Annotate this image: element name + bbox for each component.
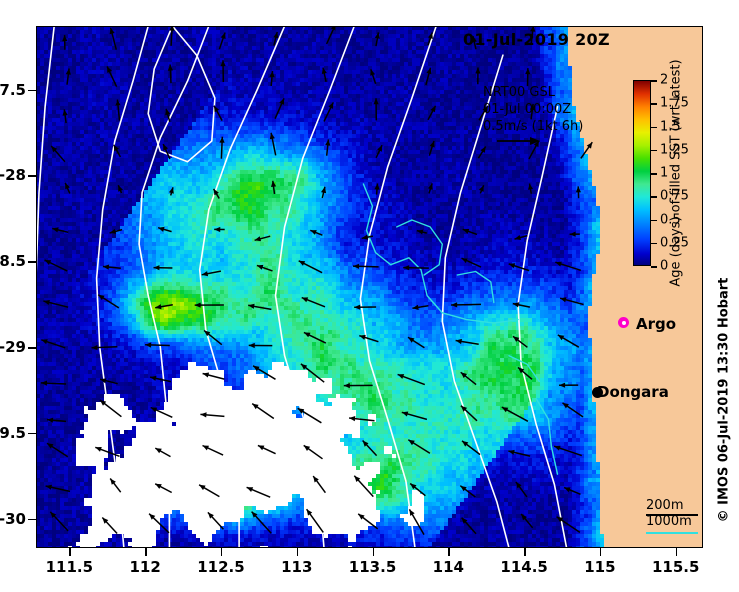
current-vector-arrow [110,28,117,50]
current-vector-arrow [513,302,530,307]
colorbar-tick-label: 2 [660,73,668,88]
bathymetry-200m-label: 200m [646,498,692,514]
colorbar-tick [651,266,657,268]
vector-legend-time: 01-Jul 00:00Z [483,101,583,118]
current-vector-arrow [461,372,476,384]
bathymetry-contour-200m [200,26,285,548]
x-axis-tick-label: 113 [281,558,312,576]
x-axis-tick-label: 112 [129,558,160,576]
current-vector-arrow [151,408,173,418]
current-vector-arrow [398,374,425,385]
x-axis-tick-label: 115.5 [652,558,699,576]
current-vector-arrow [98,295,119,308]
current-vector-arrow [41,381,66,386]
current-vector-arrow [327,26,336,44]
current-vector-arrow [358,514,378,529]
x-axis-tick-label: 112.5 [197,558,244,576]
current-vector-arrow [257,265,273,271]
bathymetry-contour-1000m [457,272,493,303]
current-vector-arrow [564,487,580,494]
current-vector-arrow [47,418,66,423]
current-vector-arrow [515,235,528,240]
current-vector-arrow [508,450,530,456]
colorbar-tick [651,80,657,82]
current-vector-arrow [270,133,276,156]
current-vector-arrow [204,330,222,344]
colorbar-label: Age (days) of filled SST (wrt latest) [669,59,684,286]
current-vector-arrow [354,476,373,497]
vector-legend-source: NRT00 GSL [483,84,583,101]
bathymetry-contour-1000m [397,220,443,275]
y-axis-tick [28,347,36,349]
current-vector-arrow [95,447,119,456]
current-vector-arrow [203,373,225,380]
current-vector-arrow [103,265,121,270]
current-vector-arrow [344,383,373,388]
current-vector-arrow [66,69,71,85]
current-vector-arrow [214,106,222,121]
x-axis-tick-label: 114 [433,558,464,576]
colorbar [633,80,651,266]
current-vector-arrow [258,445,276,453]
current-vector-arrow [462,258,482,267]
current-vector-arrow [428,106,436,120]
current-vector-arrow [558,335,579,347]
current-vector-arrow [451,302,481,307]
colorbar-tick [651,173,657,175]
current-vector-arrow [301,364,324,382]
y-axis-tick-label: -30 [0,510,26,528]
y-axis-tick [28,261,36,263]
bathymetry-1000m-label: 1000m [646,514,692,530]
current-vector-arrow [271,181,276,194]
colorbar-tick [651,243,657,245]
current-vector-arrow [456,339,479,344]
bathymetry-1000m-line [646,532,698,534]
current-vector-arrow [576,186,581,198]
current-vector-arrow [461,406,477,421]
current-vector-arrow [403,265,429,270]
current-vector-arrow [247,487,271,497]
current-vector-arrow [100,400,122,417]
current-vector-arrow [502,407,528,421]
current-vector-arrow [63,109,68,123]
y-axis-tick-label: -28 [0,166,26,184]
current-vector-arrow [275,98,284,118]
current-vector-arrow [65,183,70,194]
bathymetry-contour-200m [276,26,355,548]
current-vector-arrow [324,102,333,121]
current-vector-arrow [555,262,581,271]
y-axis-tick [28,433,36,435]
x-axis-tick [373,548,375,556]
current-vector-arrow [110,479,121,493]
x-axis-tick [221,548,223,556]
current-vector-arrow [570,232,580,237]
current-vector-arrow [168,65,173,84]
sst-age-map [36,26,703,548]
current-vector-arrow [221,60,226,82]
current-vector-arrow [354,305,376,310]
x-axis-tick-label: 111.5 [46,558,93,576]
current-vector-arrow [460,486,475,497]
current-vector-arrow [363,441,377,456]
colorbar-tick [651,103,657,105]
current-vector-arrow [375,32,380,46]
current-vector-arrow [110,229,123,234]
current-vector-arrow [429,141,434,156]
current-vector-arrow [155,304,173,309]
current-vector-arrow [249,343,273,348]
current-vector-arrow [349,416,374,421]
current-vector-arrow [298,408,322,423]
y-axis-tick-label: -29 [0,338,26,356]
colorbar-tick [651,150,657,152]
x-axis-tick-label: 113.5 [349,558,396,576]
y-axis-tick-label: -27.5 [0,81,26,99]
y-axis-tick-label: -28.5 [0,252,26,270]
argo-label: Argo [636,315,676,333]
current-vector-arrow [100,378,118,384]
vector-legend: NRT00 GSL 01-Jul 00:00Z 0.5m/s (1kt 6h) [483,84,583,135]
x-axis-tick [145,548,147,556]
current-vector-arrow [219,33,225,50]
current-vector-arrow [165,109,170,122]
current-vector-arrow [362,235,373,240]
map-overlay [36,26,703,548]
current-vector-arrow [528,184,533,194]
current-vector-arrow [426,68,432,85]
current-vector-arrow [51,146,65,162]
y-axis-tick [28,519,36,521]
current-vector-arrow [359,335,378,342]
current-vector-arrow [325,139,330,155]
current-vector-arrow [208,512,224,529]
colorbar-tick-label: 1 [660,166,668,181]
current-vector-arrow [563,403,584,417]
current-vector-arrow [214,227,225,232]
current-vector-arrow [310,230,322,235]
current-vector-arrow [376,145,382,158]
x-axis-tick [69,548,71,556]
current-vector-arrow [163,144,170,159]
current-vector-arrow [102,518,117,534]
x-axis-tick [297,548,299,556]
x-axis-tick-label: 114.5 [500,558,547,576]
current-vector-arrow [478,147,485,159]
current-vector-arrow [462,518,476,534]
current-vector-arrow [169,26,174,46]
current-vector-arrow [417,230,427,235]
right-arrow-icon [496,134,542,148]
current-vector-arrow [374,183,379,194]
dongara-label: Dongara [597,383,669,401]
current-vector-arrow [253,366,275,380]
current-vector-arrow [52,227,68,232]
current-vector-arrow [248,304,271,310]
current-vector-arrow [46,485,70,492]
current-vector-arrow [521,514,532,528]
current-vector-arrow [370,69,375,84]
current-vector-arrow [479,185,484,193]
current-vector-arrow [252,512,272,534]
current-vector-arrow [554,446,582,456]
current-vector-arrow [195,303,224,308]
current-vector-arrow [219,137,224,159]
current-vector-arrow [475,68,480,85]
current-vector-arrow [118,185,123,193]
copyright-text: © IMOS 06-Jul-2019 13:30 Hobart [717,278,732,523]
current-vector-arrow [581,142,593,158]
current-vector-arrow [428,183,433,193]
current-vector-arrow [269,71,274,86]
current-vector-arrow [203,446,224,456]
current-vector-arrow [374,98,379,120]
current-vector-arrow [304,332,326,343]
current-vector-arrow [202,271,221,276]
current-vector-arrow [559,383,578,388]
current-vector-arrow [410,484,425,496]
current-vector-arrow [47,443,68,457]
current-vector-arrow [321,187,326,198]
y-axis-tick [28,175,36,177]
current-vector-arrow [463,229,477,235]
bathymetry-contour-200m [36,26,54,278]
vector-legend-scale: 0.5m/s (1kt 6h) [483,118,583,135]
current-vector-arrow [557,517,580,533]
current-vector-arrow [158,227,172,232]
current-vector-arrow [150,376,171,382]
bathymetry-contour-200m [518,107,567,548]
current-vector-arrow [509,263,530,270]
current-vector-arrow [299,261,322,273]
x-axis-tick [524,548,526,556]
current-vector-arrow [408,440,430,454]
current-vector-arrow [322,68,327,82]
x-axis-tick [676,548,678,556]
current-vector-arrow [92,345,118,350]
page-title: 01-Jul-2019 20Z [463,30,610,49]
current-vector-arrow [115,100,120,121]
current-vector-arrow [302,297,325,306]
current-vector-arrow [45,260,68,271]
bathymetry-200m-line [646,514,698,516]
current-vector-arrow [252,404,274,419]
current-vector-arrow [154,265,173,270]
y-axis-tick-label: -29.5 [0,424,26,442]
current-vector-arrow [50,512,68,531]
current-vector-arrow [412,305,428,310]
colorbar-tick [651,196,657,198]
current-vector-arrow [560,297,584,304]
current-vector-arrow [169,187,174,195]
colorbar-tick [651,127,657,129]
y-axis-tick [28,90,36,92]
current-vector-arrow [255,236,271,241]
current-vector-arrow [41,339,65,348]
x-axis-tick-label: 115 [584,558,615,576]
bathymetry-contour-200m [97,26,149,548]
current-vector-arrow [43,300,68,307]
argo-marker-icon [618,317,629,328]
current-vector-arrow [408,337,424,347]
current-vector-arrow [516,482,527,497]
current-vector-arrow [107,66,117,86]
x-axis-tick [600,548,602,556]
current-vector-arrow [145,342,170,347]
colorbar-tick [651,220,657,222]
current-vector-arrow [62,35,67,50]
current-vector-arrow [114,145,121,157]
current-vector-arrow [199,485,219,497]
current-vector-arrow [200,412,224,417]
current-vector-arrow [149,514,169,533]
colorbar-tick-label: 0 [660,259,668,274]
x-axis-tick [448,548,450,556]
current-vector-arrow [402,412,427,420]
